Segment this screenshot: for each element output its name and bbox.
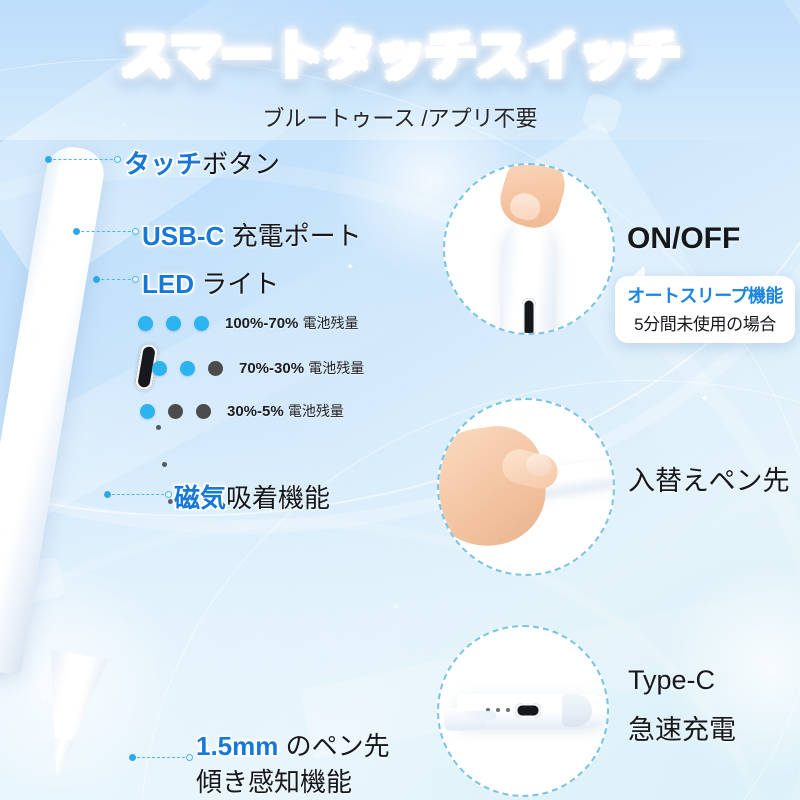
battery-dot-filled (166, 316, 181, 331)
battery-row: 30%-5% 電池残量 (140, 401, 344, 421)
leader-line-pen-tip (132, 757, 190, 758)
label-pen-tip-text: のペン先 (278, 731, 389, 761)
battery-dot-filled (194, 316, 209, 331)
label-fast-charge: 急速充電 (628, 708, 736, 747)
label-led-light: LED ライト (142, 264, 279, 301)
inset-hand-replacing-pen-tip (437, 398, 615, 576)
usb-c-port-icon (515, 703, 541, 718)
label-usb-c-text: 充電ポート (224, 221, 361, 251)
battery-dot-filled (138, 316, 153, 331)
battery-range: 70%-30% (239, 360, 304, 377)
label-tilt-detection: 傾き感知機能 (196, 762, 352, 799)
battery-range: 30%-5% (227, 403, 284, 420)
label-usb-c-charging-port: USB-C 充電ポート (142, 216, 362, 253)
sparkle-icon: ✦ (700, 392, 709, 405)
battery-dot-empty (208, 361, 223, 376)
battery-dot-filled (152, 361, 167, 376)
battery-dot-empty (168, 404, 183, 419)
label-magnetic-highlight: 磁気 (174, 483, 226, 513)
label-magnetic-attachment: 磁気吸着機能 (174, 478, 330, 515)
label-tilt-detection-text: 傾き感知機能 (196, 767, 352, 797)
label-pen-tip-size: 1.5mm のペン先 (196, 726, 390, 763)
battery-row: 70%-30% 電池残量 (152, 358, 364, 378)
sparkle-icon: ✦ (38, 690, 49, 706)
label-touch-button-highlight: タッチ (124, 149, 202, 179)
battery-dot-filled (140, 404, 155, 419)
battery-dot-filled (180, 361, 195, 376)
battery-row-text: 70%-30% 電池残量 (239, 358, 364, 378)
label-pen-tip-highlight: 1.5mm (196, 731, 278, 761)
auto-sleep-callout: オートスリープ機能 5分間未使用の場合 (615, 276, 795, 343)
battery-dot-empty (196, 404, 211, 419)
inset-pen-usb-c-charging (437, 625, 609, 797)
leader-line-magnetic (107, 494, 169, 495)
inset-2-photo (439, 400, 613, 574)
label-magnetic-text: 吸着機能 (226, 483, 330, 513)
label-type-c: Type-C (628, 665, 715, 696)
label-replaceable-pen-tip: 入替えペン先 (628, 459, 789, 498)
label-usb-c-highlight: USB-C (142, 221, 224, 251)
infographic-canvas: ✦ ✦ ✧ ✦ ✧ スマートタッチスイッチ ブルートゥース /アプリ不要 (0, 0, 800, 800)
inset-1-photo (445, 165, 613, 333)
charging-cable-body (462, 711, 496, 720)
battery-suffix: 電池残量 (303, 315, 359, 331)
led-indicator-dot (527, 334, 531, 335)
inset-finger-touch-pen-top (443, 163, 615, 335)
page-title: スマートタッチスイッチ (0, 14, 800, 89)
battery-suffix: 電池残量 (288, 403, 344, 419)
leader-line-touch-button (48, 159, 118, 160)
label-touch-button: タッチボタン (124, 144, 280, 181)
leader-line-led (96, 279, 136, 280)
label-touch-button-text: ボタン (202, 149, 280, 179)
battery-row-text: 30%-5% 電池残量 (227, 401, 344, 421)
battery-range: 100%-70% (225, 315, 298, 332)
label-led-text: ライト (194, 269, 279, 299)
callout-subtitle: 5分間未使用の場合 (623, 310, 787, 335)
battery-row: 100%-70% 電池残量 (138, 313, 359, 333)
usb-c-port-icon (522, 298, 536, 336)
inset-3-photo (439, 627, 607, 795)
battery-row-text: 100%-70% 電池残量 (225, 313, 359, 333)
label-on-off: ON/OFF (627, 222, 740, 256)
label-led-highlight: LED (142, 269, 194, 299)
callout-title: オートスリープ機能 (623, 282, 787, 308)
background-square-2 (18, 556, 65, 603)
page-subtitle: ブルートゥース /アプリ不要 (0, 101, 800, 133)
header: スマートタッチスイッチ ブルートゥース /アプリ不要 (0, 14, 800, 133)
fingernail (507, 190, 543, 223)
battery-suffix: 電池残量 (308, 360, 364, 376)
sparkle-icon: ✧ (392, 600, 401, 613)
leader-line-usb-c (76, 231, 136, 232)
sparkle-icon: ✦ (346, 262, 354, 273)
